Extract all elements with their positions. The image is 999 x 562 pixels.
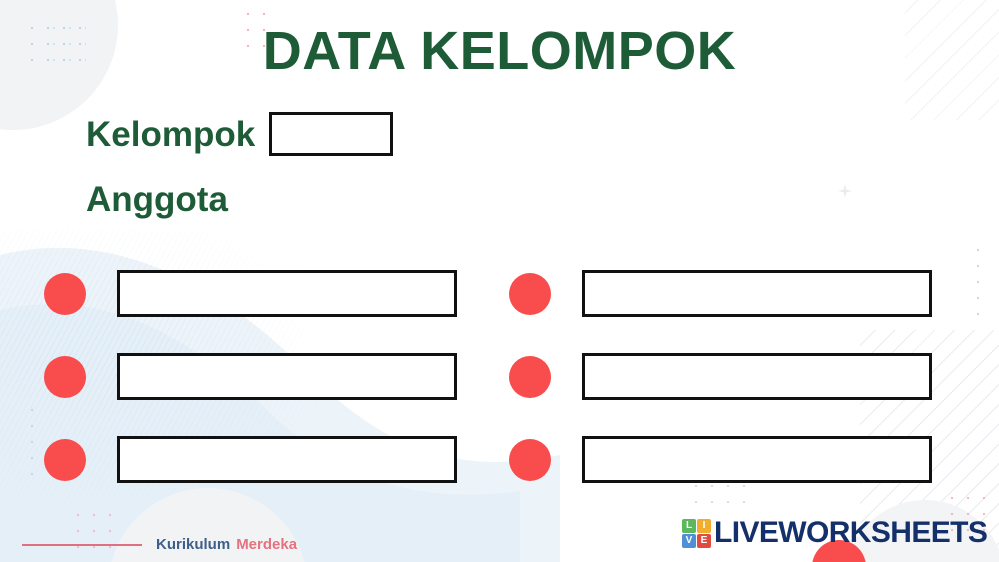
list-item <box>509 262 932 325</box>
curriculum-footer: Kurikulum Merdeka <box>22 536 297 553</box>
red-circle-icon <box>509 356 551 398</box>
red-circle-icon <box>509 273 551 315</box>
dot-column-left-icon <box>22 400 34 480</box>
liveworksheets-wordmark: LIVEWORKSHEETS <box>714 518 987 548</box>
curriculum-word-kurikulum: Kurikulum <box>156 536 230 553</box>
liveworksheets-logo: L I V E LIVEWORKSHEETS <box>682 518 987 548</box>
red-circle-icon <box>44 273 86 315</box>
anggota-input-right-1[interactable] <box>582 270 932 317</box>
logo-tile-i: I <box>697 519 711 533</box>
red-circle-icon <box>44 439 86 481</box>
list-item <box>44 262 457 325</box>
curriculum-word-merdeka: Merdeka <box>236 536 297 553</box>
logo-tile-l: L <box>682 519 696 533</box>
red-circle-icon <box>509 439 551 481</box>
anggota-input-left-1[interactable] <box>117 270 457 317</box>
field-row-anggota: Anggota <box>86 182 228 217</box>
liveworksheets-tiles-icon: L I V E <box>682 519 711 548</box>
anggota-input-right-2[interactable] <box>582 353 932 400</box>
anggota-input-right-3[interactable] <box>582 436 932 483</box>
list-item <box>44 428 457 491</box>
field-row-kelompok: Kelompok <box>86 112 393 156</box>
anggota-label: Anggota <box>86 182 228 217</box>
anggota-column-left <box>44 262 457 511</box>
logo-tile-e: E <box>697 534 711 548</box>
red-circle-icon <box>44 356 86 398</box>
kelompok-label: Kelompok <box>86 117 255 152</box>
anggota-input-left-2[interactable] <box>117 353 457 400</box>
page-title: DATA KELOMPOK <box>0 22 999 81</box>
list-item <box>509 428 932 491</box>
worksheet-canvas: DATA KELOMPOK Kelompok Anggota <box>0 0 999 562</box>
curriculum-rule <box>22 544 142 546</box>
dot-column-right-icon <box>968 240 980 324</box>
list-item <box>44 345 457 408</box>
anggota-column-right <box>509 262 932 511</box>
sparkle-icon <box>838 184 852 198</box>
anggota-input-left-3[interactable] <box>117 436 457 483</box>
logo-tile-v: V <box>682 534 696 548</box>
kelompok-input[interactable] <box>269 112 393 156</box>
list-item <box>509 345 932 408</box>
